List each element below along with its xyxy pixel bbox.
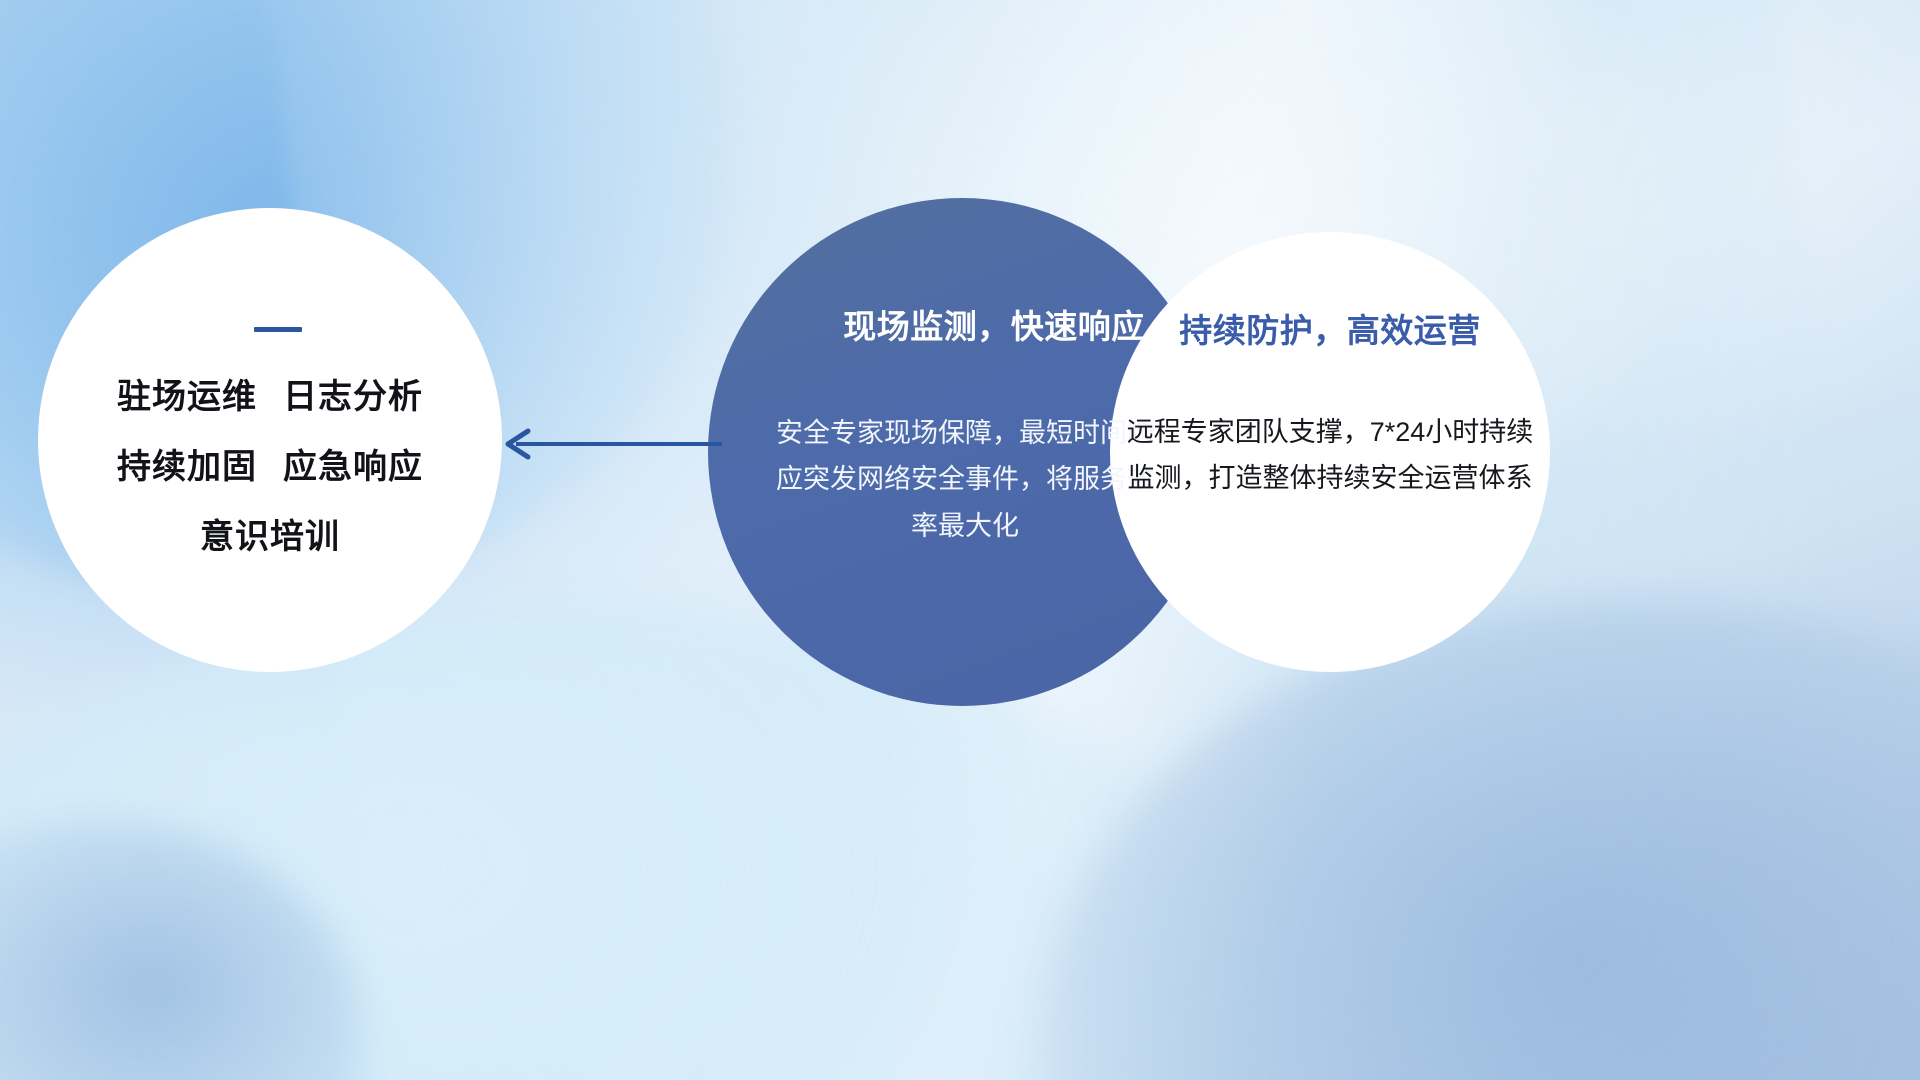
left-circle-tag: 驻场运维: [117, 380, 257, 414]
background-corner-bottom-left: [0, 820, 360, 1080]
left-circle-tag: 意识培训: [200, 520, 340, 554]
left-circle-tag: 应急响应: [283, 450, 423, 484]
left-circle-content: 驻场运维 日志分析 持续加固 应急响应 意识培训: [38, 208, 502, 672]
left-circle-row-2: 持续加固 应急响应: [117, 450, 423, 484]
left-circle-row-1: 驻场运维 日志分析: [117, 380, 423, 414]
left-circle-row-3: 意识培训: [200, 520, 340, 554]
background-blob-bottom-right: [1040, 600, 1920, 1080]
background-blob-bottom-left: [0, 600, 1300, 1080]
left-circle-tag: 日志分析: [283, 380, 423, 414]
short-dash-divider-icon: [254, 327, 302, 332]
right-circle-shape: [1110, 232, 1550, 672]
arrow-left-icon: [494, 424, 724, 464]
left-circle-tag: 持续加固: [117, 450, 257, 484]
